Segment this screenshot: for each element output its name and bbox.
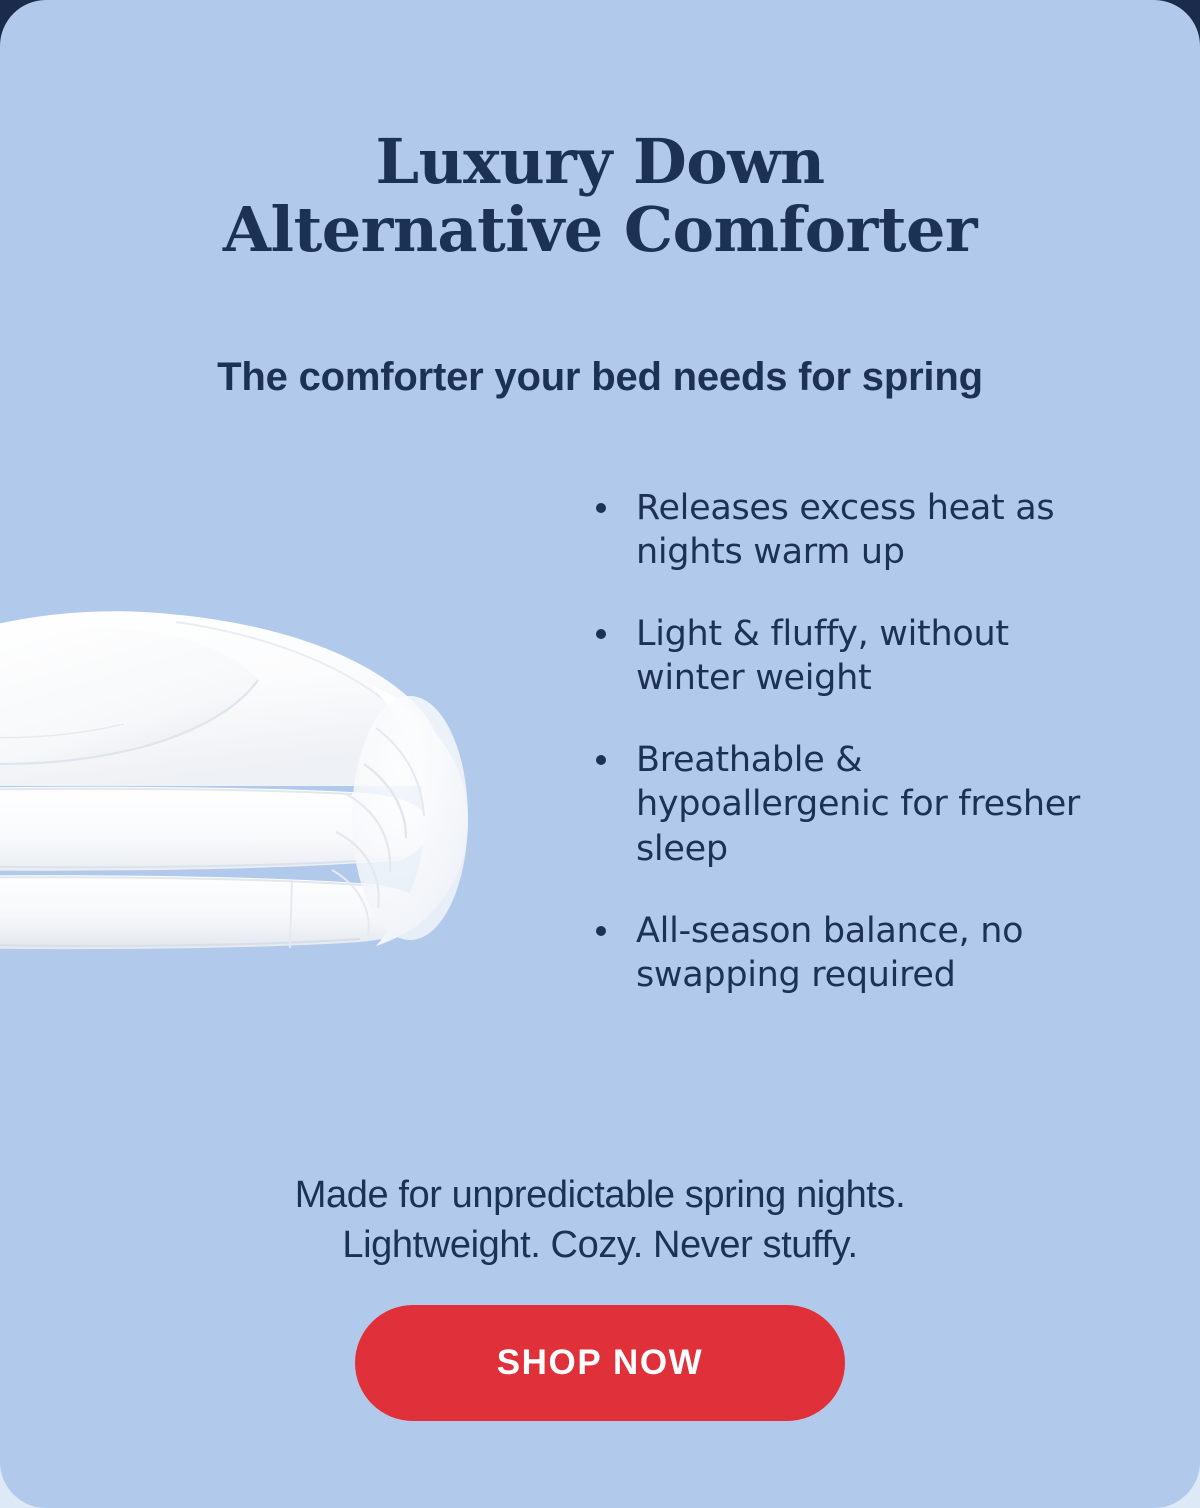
list-item: All-season balance, no swapping required <box>592 909 1112 997</box>
tagline-line-2: Lightweight. Cozy. Never stuffy. <box>0 1220 1200 1270</box>
list-item: Releases excess heat as nights warm up <box>592 486 1112 574</box>
benefit-text: All-season balance, no swapping required <box>636 911 1023 995</box>
list-item: Light & fluffy, without winter weight <box>592 612 1112 700</box>
bullet-dot-icon <box>596 503 606 513</box>
bullet-dot-icon <box>596 629 606 639</box>
bullet-dot-icon <box>596 755 606 765</box>
benefit-text: Breathable & hypoallergenic for fresher … <box>636 740 1080 868</box>
page-title: Luxury Down Alternative Comforter <box>0 128 1200 264</box>
tagline-line-1: Made for unpredictable spring nights. <box>0 1170 1200 1220</box>
headline-line-1: Luxury Down <box>0 128 1200 196</box>
bullet-dot-icon <box>596 926 606 936</box>
headline-line-2: Alternative Comforter <box>0 196 1200 264</box>
benefit-text: Light & fluffy, without winter weight <box>636 614 1009 698</box>
page-subtitle: The comforter your bed needs for spring <box>0 353 1200 401</box>
list-item: Breathable & hypoallergenic for fresher … <box>592 738 1112 870</box>
folded-comforter-photo <box>0 588 540 996</box>
benefit-text: Releases excess heat as nights warm up <box>636 488 1054 572</box>
promo-card: Luxury Down Alternative Comforter The co… <box>0 0 1200 1508</box>
tagline: Made for unpredictable spring nights. Li… <box>0 1170 1200 1270</box>
shop-now-button[interactable]: SHOP NOW <box>355 1305 845 1421</box>
benefits-list: Releases excess heat as nights warm up L… <box>592 486 1112 997</box>
